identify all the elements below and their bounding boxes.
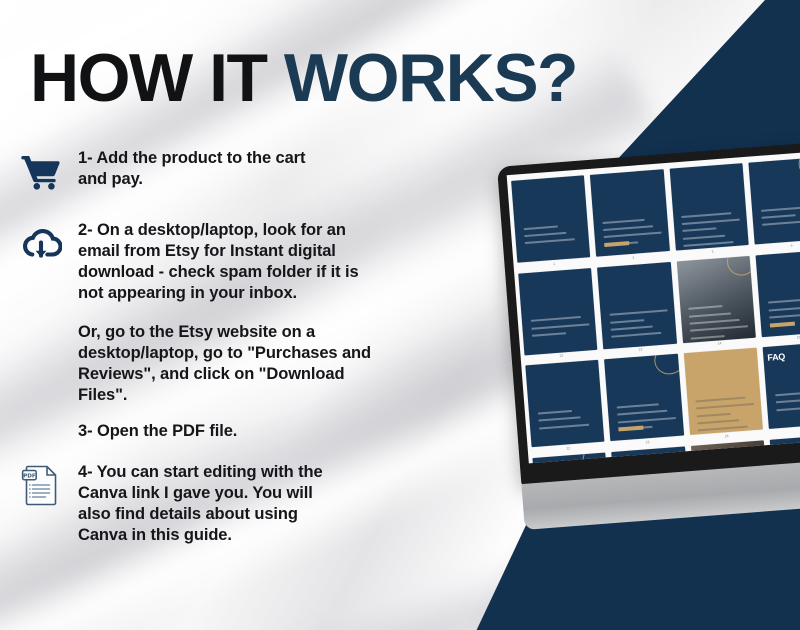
thumbnail-text-line (684, 241, 734, 247)
thumbnail-cell[interactable]: 24 (684, 348, 764, 441)
template-thumbnail[interactable] (604, 354, 683, 442)
thumbnail-text-line (618, 417, 676, 423)
thumbnail-text-line (617, 410, 667, 416)
thumbnail-text-line (611, 332, 661, 338)
thumbnail-text-line (682, 219, 740, 225)
page-title: HOW IT WORKS? (30, 44, 577, 112)
thumbnail-text-line (775, 390, 800, 396)
thumbnail-cell[interactable]: 3 (669, 163, 749, 256)
pdf-badge-label: PDF (23, 473, 36, 479)
thumbnail-accent-bar (604, 241, 629, 247)
thumbnail-number: 14 (718, 342, 722, 346)
thumbnail-cell[interactable]: 14 (676, 256, 756, 349)
thumbnail-text-line (698, 426, 748, 432)
thumbnail-text-line (697, 412, 731, 417)
thumbnail-decor-circle (654, 354, 684, 375)
step-2-alternate-text: Or, go to the Etsy website on a desktop/… (78, 322, 371, 406)
thumbnail-text-line (697, 403, 755, 409)
thumbnail-text-line (683, 235, 725, 240)
template-thumbnail[interactable] (525, 360, 604, 448)
thumbnail-number: 15 (797, 335, 800, 339)
cloud-download-icon (18, 220, 64, 266)
thumbnail-text-line (617, 403, 659, 408)
monitor-screen: 123456121314151617222324FAQ25FAQ26FAQ273… (507, 146, 800, 463)
step-2-alternate: Or, go to the Etsy website on a desktop/… (18, 322, 371, 406)
thumbnail-number: 22 (566, 446, 570, 450)
thumbnail-text-line (690, 319, 740, 325)
page-title-part-1: HOW IT (30, 40, 284, 116)
template-thumbnail-grid: 123456121314151617222324FAQ25FAQ26FAQ273… (511, 146, 800, 463)
thumbnail-text-line (769, 312, 800, 318)
thumbnail-text-line (776, 399, 800, 404)
thumbnail-text-line (761, 205, 800, 211)
thumbnail-cell[interactable]: FAQ25 (763, 342, 800, 435)
thumbnail-number: 12 (559, 354, 563, 358)
thumbnail-text-line (761, 214, 795, 219)
thumbnail-number: 1 (553, 261, 555, 265)
thumbnail-text-line (698, 419, 740, 424)
thumbnail-text-line (611, 326, 653, 331)
thumbnail-text-line (691, 335, 725, 340)
thumbnail-cell[interactable]: 13 (597, 262, 677, 355)
thumbnail-number: 4 (790, 243, 792, 247)
thumbnail-cell[interactable]: 23 (604, 354, 684, 447)
template-thumbnail[interactable] (684, 348, 763, 436)
template-thumbnail[interactable] (511, 175, 590, 263)
thumbnail-cell[interactable]: 4 (748, 157, 800, 250)
thumbnail-text-line (682, 212, 732, 218)
thumbnail-text-line (762, 221, 800, 226)
thumbnail-caption: FAQ (767, 352, 785, 363)
thumbnail-text-line (776, 406, 800, 411)
thumbnail-text-line (769, 305, 800, 311)
thumbnail-text-line (524, 225, 558, 230)
template-thumbnail[interactable] (669, 163, 748, 251)
thumbnail-text-line (525, 239, 575, 245)
thumbnail-number: 2 (632, 255, 634, 259)
thumbnail-text-line (610, 319, 644, 324)
step-4: PDF 4- You can start editing with the Ca… (18, 462, 323, 546)
thumbnail-text-line (768, 299, 800, 304)
step-1: 1- Add the product to the cart and pay. (18, 148, 305, 194)
shopping-cart-icon (18, 148, 64, 194)
template-thumbnail[interactable] (597, 262, 676, 350)
thumbnail-cell[interactable]: 22 (525, 360, 605, 453)
thumbnail-text-line (610, 310, 668, 316)
step-3: 3- Open the PDF file. (18, 421, 237, 467)
template-thumbnail[interactable] (748, 157, 800, 245)
thumbnail-text-line (532, 332, 566, 337)
thumbnail-text-line (689, 305, 723, 310)
template-thumbnail[interactable] (756, 249, 800, 337)
template-thumbnail[interactable] (676, 256, 755, 344)
thumbnail-text-line (689, 312, 731, 317)
thumbnail-cell[interactable]: 2 (590, 169, 670, 262)
thumbnail-number: 13 (638, 348, 642, 352)
thumbnail-text-line (603, 225, 653, 231)
thumbnail-text-line (604, 232, 662, 238)
thumbnail-accent-bar (770, 321, 795, 327)
thumbnail-text-line (524, 232, 566, 237)
desktop-monitor-mockup: 123456121314151617222324FAQ25FAQ26FAQ273… (497, 136, 800, 486)
step-2: 2- On a desktop/laptop, look for an emai… (18, 220, 359, 304)
step-1-text: 1- Add the product to the cart and pay. (78, 148, 305, 190)
thumbnail-text-line (603, 218, 645, 223)
thumbnail-cell[interactable]: 12 (518, 268, 598, 361)
thumbnail-cell[interactable]: 1 (511, 175, 591, 268)
step-3-text: 3- Open the PDF file. (78, 421, 237, 442)
thumbnail-text-line (531, 316, 581, 322)
poster-canvas: HOW IT WORKS? 1- Add the product to the … (0, 0, 800, 630)
thumbnail-text-line (538, 417, 580, 422)
step-2-text: 2- On a desktop/laptop, look for an emai… (78, 220, 359, 304)
thumbnail-text-line (538, 410, 572, 415)
page-title-part-2: WORKS? (284, 40, 577, 116)
thumbnail-number: 3 (711, 249, 713, 253)
thumbnail-number: 23 (646, 440, 650, 444)
step-4-text: 4- You can start editing with the Canva … (78, 462, 323, 546)
thumbnail-text-line (531, 323, 589, 329)
thumbnail-accent-bar (618, 426, 643, 432)
thumbnail-text-line (691, 326, 749, 332)
thumbnail-number: 24 (725, 434, 729, 438)
template-thumbnail[interactable] (518, 268, 597, 356)
thumbnail-text-line (696, 397, 746, 403)
thumbnail-text-line (683, 228, 717, 233)
pdf-file-icon: PDF (18, 462, 64, 508)
template-thumbnail[interactable] (590, 169, 669, 257)
thumbnail-text-line (539, 423, 589, 429)
thumbnail-cell[interactable]: 15 (756, 249, 800, 342)
thumbnail-decor-circle (726, 256, 756, 277)
template-thumbnail[interactable]: FAQ (763, 342, 800, 430)
